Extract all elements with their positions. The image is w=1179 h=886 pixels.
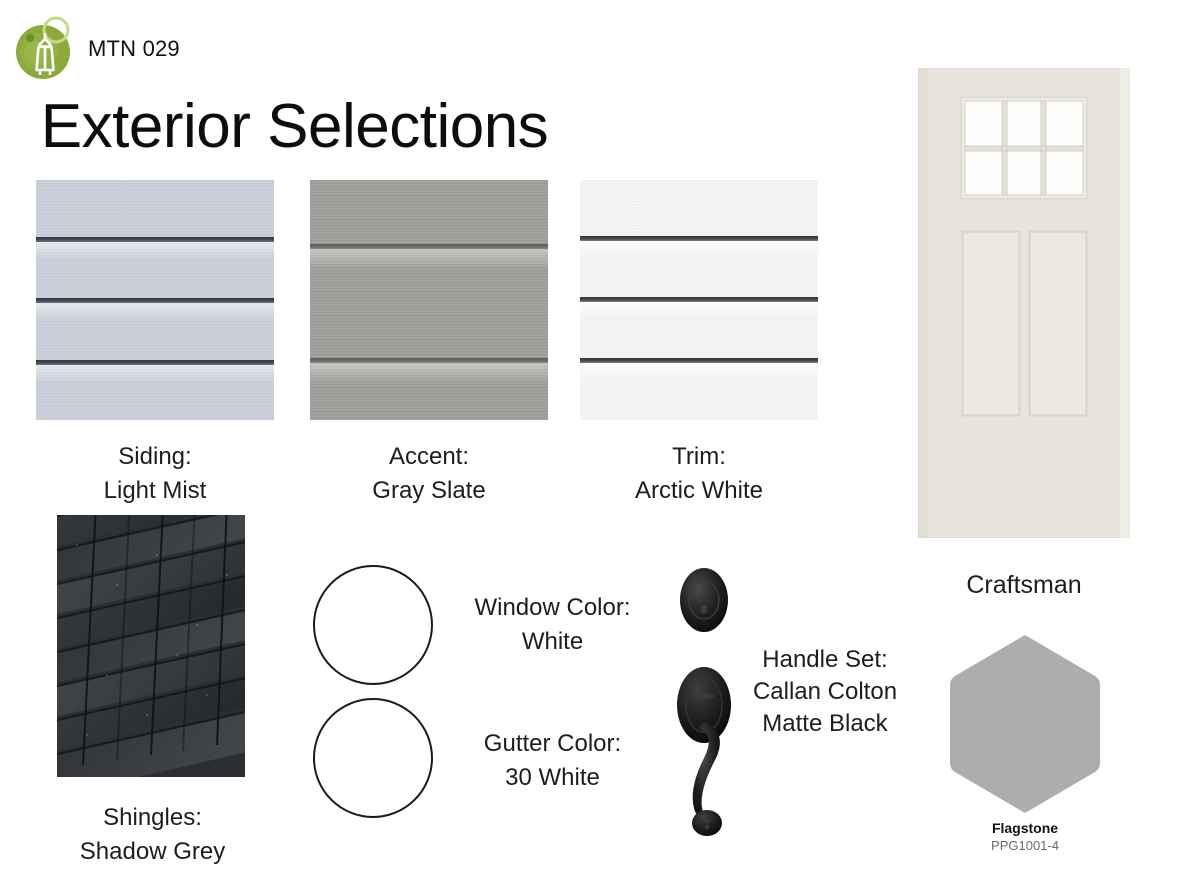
paint-chip-hexagon <box>946 632 1104 816</box>
lantern-logo-icon <box>12 12 82 84</box>
caption-door-style: Craftsman <box>915 568 1133 602</box>
caption-accent: Accent: Gray Slate <box>310 440 548 508</box>
caption-window-line1: Window Color: <box>440 591 665 625</box>
caption-gutter-line1: Gutter Color: <box>440 727 665 761</box>
caption-accent-line2: Gray Slate <box>310 474 548 508</box>
caption-siding: Siding: Light Mist <box>36 440 274 508</box>
paint-chip-name: Flagstone <box>946 820 1104 836</box>
caption-trim-line2: Arctic White <box>580 474 818 508</box>
caption-handle-line1: Handle Set: <box>735 644 915 676</box>
caption-shingles-line1: Shingles: <box>30 801 275 835</box>
craftsman-door-icon <box>918 68 1130 538</box>
swatch-window-color <box>313 565 433 685</box>
caption-shingles: Shingles: Shadow Grey <box>30 801 275 869</box>
swatch-shingles <box>57 515 245 777</box>
caption-window-line2: White <box>440 625 665 659</box>
swatch-siding <box>36 180 274 420</box>
project-code: MTN 029 <box>88 36 180 62</box>
caption-handle-line3: Matte Black <box>735 708 915 740</box>
swatch-accent <box>310 180 548 420</box>
caption-handle-set: Handle Set: Callan Colton Matte Black <box>735 644 915 740</box>
caption-accent-line1: Accent: <box>310 440 548 474</box>
paint-chip-code: PPG1001-4 <box>946 838 1104 853</box>
caption-trim: Trim: Arctic White <box>580 440 818 508</box>
swatch-gutter-color <box>313 698 433 818</box>
caption-trim-line1: Trim: <box>580 440 818 474</box>
caption-window-color: Window Color: White <box>440 591 665 659</box>
caption-handle-line2: Callan Colton <box>735 676 915 708</box>
caption-shingles-line2: Shadow Grey <box>30 835 275 869</box>
caption-siding-line1: Siding: <box>36 440 274 474</box>
swatch-trim <box>580 180 818 420</box>
caption-gutter-color: Gutter Color: 30 White <box>440 727 665 795</box>
caption-siding-line2: Light Mist <box>36 474 274 508</box>
caption-gutter-line2: 30 White <box>440 761 665 795</box>
